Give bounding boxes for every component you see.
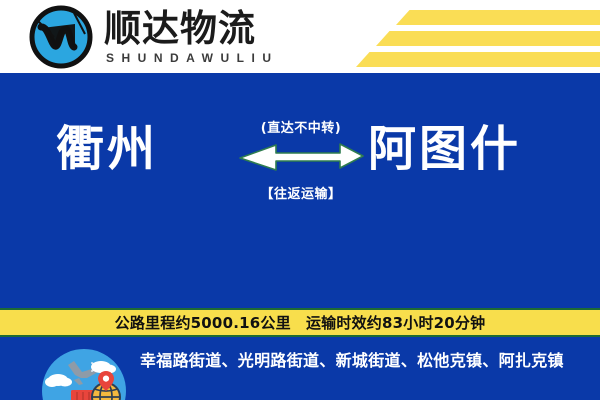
route-middle: (直达不中转) 【往返运输】 bbox=[236, 111, 366, 231]
coverage-areas-text: 幸福路街道、光明路街道、新城街道、松他克镇、阿扎克镇 bbox=[140, 349, 582, 372]
circle-w-swoosh-logo-icon bbox=[28, 4, 94, 70]
bidirectional-arrow-icon bbox=[236, 142, 366, 176]
banner-body: 衢州 (直达不中转) 【往返运输】 阿图什 公路里程约5000.16公里 运输时… bbox=[0, 73, 600, 400]
decorative-stripes bbox=[310, 0, 600, 73]
logistics-truck-globe-plane-icon bbox=[38, 345, 130, 400]
route-info-bar: 公路里程约5000.16公里 运输时效约83小时20分钟 bbox=[0, 308, 600, 337]
coverage-section: 幸福路街道、光明路街道、新城街道、松他克镇、阿扎克镇 bbox=[0, 343, 600, 400]
company-logo-block[interactable]: 顺达物流 SHUNDAWULIU bbox=[28, 4, 279, 70]
company-name-block: 顺达物流 SHUNDAWULIU bbox=[104, 8, 279, 65]
route-row: 衢州 (直达不中转) 【往返运输】 阿图什 bbox=[0, 111, 600, 231]
logistics-route-banner: 顺达物流 SHUNDAWULIU 衢州 (直达不中转) 【 bbox=[0, 0, 600, 400]
stripe-2 bbox=[376, 31, 600, 46]
company-name-cn: 顺达物流 bbox=[104, 10, 279, 49]
stripe-1 bbox=[396, 10, 600, 25]
company-name-en: SHUNDAWULIU bbox=[106, 51, 279, 65]
service-note: 【往返运输】 bbox=[260, 183, 341, 202]
stripe-3 bbox=[356, 52, 600, 67]
route-info-text: 公路里程约5000.16公里 运输时效约83小时20分钟 bbox=[115, 312, 486, 333]
origin-city: 衢州 bbox=[56, 125, 158, 173]
direct-note: (直达不中转) bbox=[261, 117, 341, 136]
destination-city: 阿图什 bbox=[368, 125, 521, 173]
banner-header: 顺达物流 SHUNDAWULIU bbox=[0, 0, 600, 73]
